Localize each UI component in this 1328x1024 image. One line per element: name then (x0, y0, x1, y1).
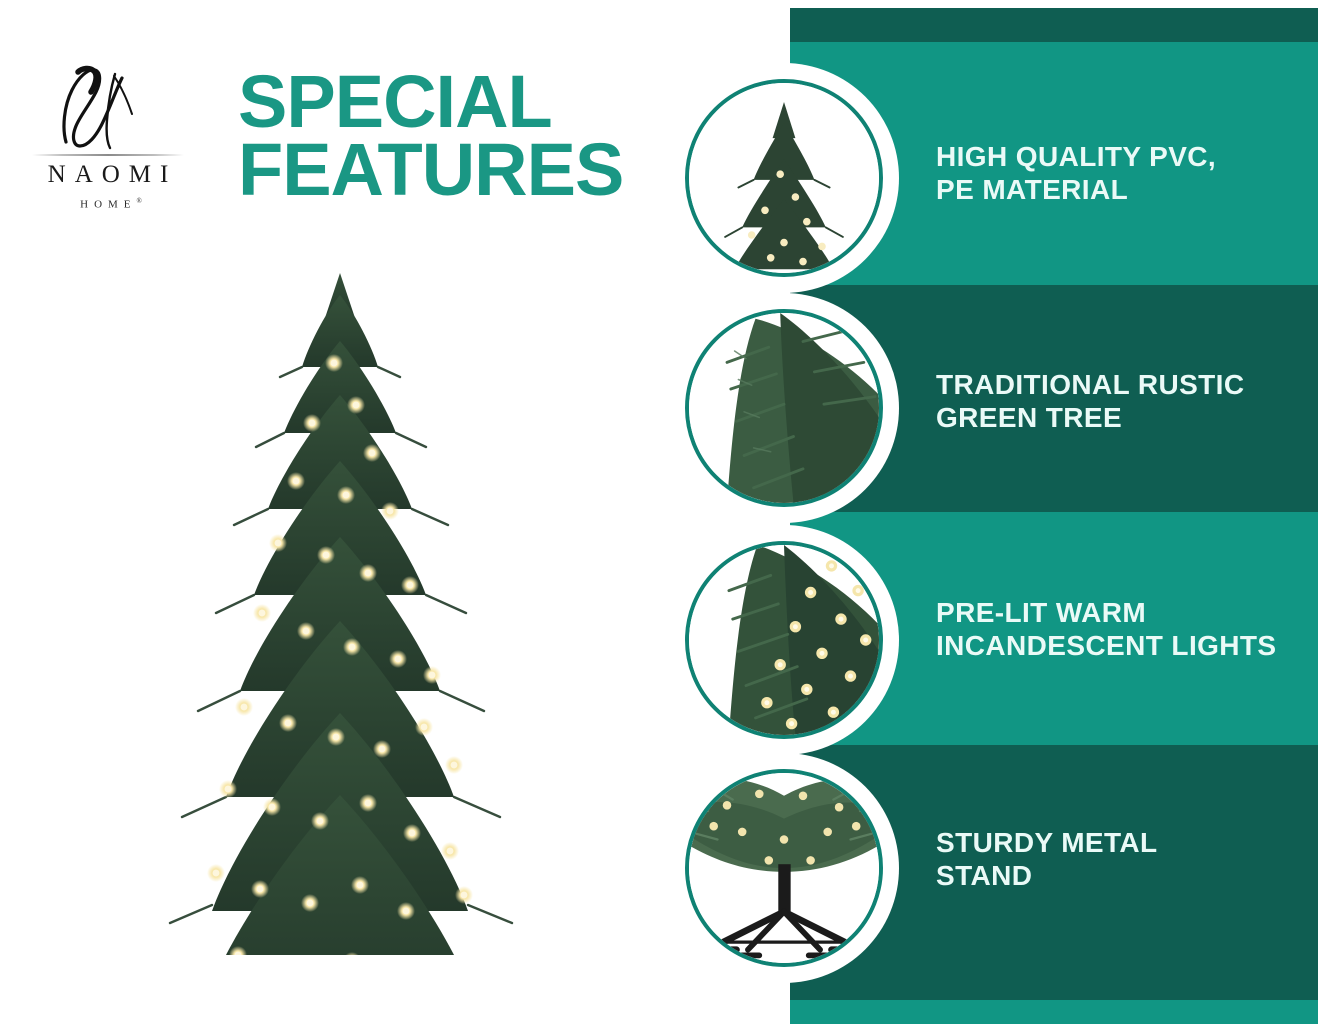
left-panel: NAOMI HOME® SPECIAL FEATURES (0, 0, 790, 1024)
feature-label-2: TRADITIONAL RUSTIC GREEN TREE (936, 368, 1316, 434)
feature-thumbnail-1-ring (685, 79, 883, 277)
feature-thumbnail-2-ring (685, 309, 883, 507)
feature-label-4: STURDY METAL STAND (936, 826, 1316, 892)
page-title-line1: SPECIAL (238, 68, 698, 136)
page-title-line2: FEATURES (238, 136, 698, 204)
feature-thumbnail-4 (678, 762, 890, 974)
feature-thumbnail-3 (678, 534, 890, 746)
thumb-metal-stand-icon (689, 773, 879, 963)
brand-sub-text: HOME (80, 199, 136, 211)
feature-thumbnail-1 (678, 72, 890, 284)
right-white-margin (1318, 0, 1328, 1024)
feature-label-2-line1: TRADITIONAL RUSTIC (936, 368, 1316, 401)
feature-label-3-line2: INCANDESCENT LIGHTS (936, 629, 1316, 662)
feature-label-1: HIGH QUALITY PVC, PE MATERIAL (936, 140, 1316, 206)
feature-thumbnail-4-ring (685, 769, 883, 967)
trademark-symbol: ® (137, 197, 142, 205)
hero-tree-image (120, 255, 560, 955)
naomi-n-monogram-icon (18, 58, 198, 154)
brand-subname: HOME® (18, 198, 198, 211)
band-top-cap (790, 8, 1318, 42)
feature-label-1-line2: PE MATERIAL (936, 173, 1316, 206)
thumb-lit-branches-icon (689, 545, 879, 735)
thumb-full-tree-icon (689, 83, 879, 273)
feature-label-2-line2: GREEN TREE (936, 401, 1316, 434)
feature-label-4-line1: STURDY METAL (936, 826, 1316, 859)
feature-label-3: PRE-LIT WARM INCANDESCENT LIGHTS (936, 596, 1316, 662)
feature-thumbnail-2 (678, 302, 890, 514)
logo-divider (32, 154, 184, 156)
feature-thumbnail-3-ring (685, 541, 883, 739)
feature-label-3-line1: PRE-LIT WARM (936, 596, 1316, 629)
brand-logo: NAOMI HOME® (18, 58, 198, 218)
feature-label-4-line2: STAND (936, 859, 1316, 892)
brand-name: NAOMI (18, 162, 198, 187)
band-bottom-cap (790, 1000, 1318, 1024)
infographic-canvas: NAOMI HOME® SPECIAL FEATURES (0, 0, 1328, 1024)
page-title: SPECIAL FEATURES (238, 68, 698, 204)
thumb-green-branches-icon (689, 313, 879, 503)
feature-label-1-line1: HIGH QUALITY PVC, (936, 140, 1316, 173)
